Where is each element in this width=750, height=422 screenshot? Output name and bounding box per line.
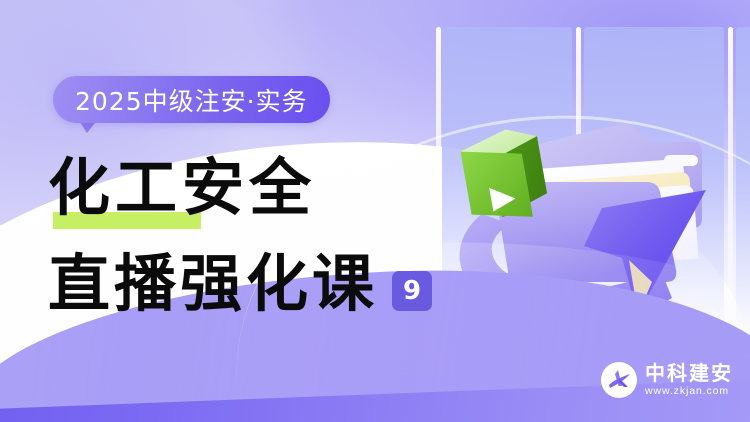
- brand-name: 中科建安: [645, 363, 733, 384]
- headline-group: 化工安全 直播强化课 9: [48, 152, 468, 320]
- course-promo-banner: 2025中级注安·实务 化工安全 直播强化课 9 中科建安: [0, 0, 750, 422]
- headline-line-2: 直播强化课 9: [48, 242, 468, 320]
- brand-url: www.zkjan.com: [645, 386, 733, 397]
- headline-title-secondary: 直播强化课: [48, 248, 378, 320]
- course-category-label: 2025中级注安·实务: [75, 82, 308, 118]
- brand-logo-text: 中科建安 www.zkjan.com: [645, 363, 733, 397]
- logo-mark-svg: [604, 365, 634, 395]
- brand-logo: 中科建安 www.zkjan.com: [601, 362, 733, 398]
- episode-number-badge: 9: [392, 271, 432, 311]
- headline-title-primary: 化工安全: [48, 152, 468, 224]
- zk-circle-logo-icon: [601, 362, 637, 398]
- text-content-block: 2025中级注安·实务 化工安全 直播强化课 9: [0, 0, 470, 422]
- course-category-badge: 2025中级注安·实务: [53, 76, 330, 123]
- episode-number-label: 9: [403, 278, 421, 304]
- headline-line-1: 化工安全: [48, 152, 468, 230]
